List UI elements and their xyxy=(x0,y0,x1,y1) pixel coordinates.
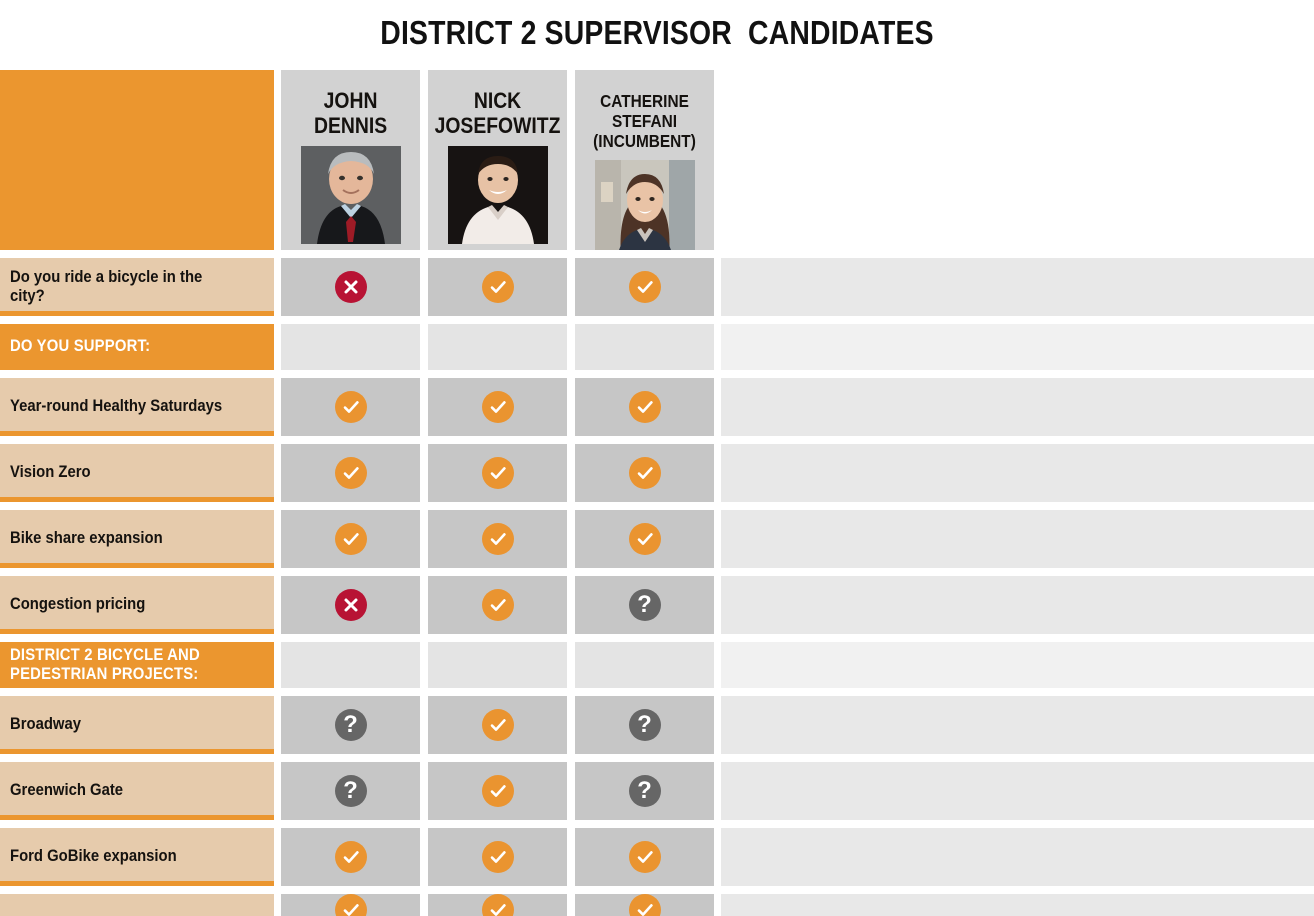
candidate-header-2: NICK JOSEFOWITZ xyxy=(428,70,567,250)
row-label-cell: Vision Zero xyxy=(0,444,274,502)
answer-cell xyxy=(575,828,714,886)
table-row: Broadway?? xyxy=(0,696,1314,754)
candidate-comparison-table: JOHN DENNISNICK JOSEFOWITZCATHERINE STEF… xyxy=(0,70,1314,916)
section-label-cell: DISTRICT 2 BICYCLE AND PEDESTRIAN PROJEC… xyxy=(0,642,274,688)
answer-cell: ? xyxy=(575,696,714,754)
table-row: Greenwich Gate?? xyxy=(0,762,1314,820)
check-icon xyxy=(482,841,514,873)
answer-cell: ? xyxy=(281,762,420,820)
row-extension-band xyxy=(721,444,1314,502)
column-separator xyxy=(420,70,428,250)
column-separator xyxy=(567,828,575,886)
portrait-nick-josefowitz xyxy=(448,146,548,244)
column-separator xyxy=(274,642,281,688)
check-icon xyxy=(629,841,661,873)
column-separator xyxy=(420,828,428,886)
answer-cell xyxy=(428,828,567,886)
portrait-catherine-stefani xyxy=(595,160,695,250)
answer-cell xyxy=(281,324,420,370)
row-extension-band xyxy=(721,642,1314,688)
answer-cell xyxy=(575,378,714,436)
column-separator xyxy=(420,444,428,502)
candidate-header-1: JOHN DENNIS xyxy=(281,70,420,250)
column-separator xyxy=(274,70,281,250)
row-label-cell xyxy=(0,894,274,916)
question-glyph: ? xyxy=(637,713,652,737)
column-separator xyxy=(274,696,281,754)
row-extension-band xyxy=(721,258,1314,316)
row-label: Vision Zero xyxy=(10,463,91,482)
column-separator xyxy=(567,576,575,634)
column-separator xyxy=(567,762,575,820)
answer-cell xyxy=(428,894,567,916)
answer-cell: ? xyxy=(575,762,714,820)
column-separator xyxy=(567,894,575,916)
row-separator xyxy=(0,754,1314,762)
portrait-john-dennis xyxy=(301,146,401,244)
answer-cell xyxy=(428,258,567,316)
question-glyph: ? xyxy=(637,593,652,617)
answer-cell xyxy=(575,642,714,688)
question-icon: ? xyxy=(335,775,367,807)
check-icon xyxy=(482,391,514,423)
question-glyph: ? xyxy=(637,779,652,803)
table-row xyxy=(0,894,1314,916)
candidate-name: NICK JOSEFOWITZ xyxy=(435,76,561,138)
column-separator xyxy=(274,894,281,916)
column-separator xyxy=(274,828,281,886)
column-separator xyxy=(420,642,428,688)
answer-cell xyxy=(575,444,714,502)
column-separator xyxy=(567,324,575,370)
answer-cell xyxy=(281,642,420,688)
answer-cell xyxy=(428,642,567,688)
answer-cell xyxy=(281,258,420,316)
question-icon: ? xyxy=(629,709,661,741)
cross-icon xyxy=(335,589,367,621)
row-label-cell: Ford GoBike expansion xyxy=(0,828,274,886)
row-extension-band xyxy=(721,324,1314,370)
page-title: DISTRICT 2 SUPERVISOR CANDIDATES xyxy=(92,14,1222,52)
row-label: Year-round Healthy Saturdays xyxy=(10,397,222,416)
answer-cell xyxy=(281,444,420,502)
candidate-name: JOHN DENNIS xyxy=(314,76,387,138)
check-icon xyxy=(629,894,661,916)
column-separator xyxy=(567,444,575,502)
answer-cell: ? xyxy=(575,576,714,634)
table-row: Do you ride a bicycle in the city? xyxy=(0,258,1314,316)
column-separator xyxy=(567,378,575,436)
column-separator xyxy=(567,696,575,754)
header-filler xyxy=(721,70,1314,250)
check-icon xyxy=(335,457,367,489)
table-row: Ford GoBike expansion xyxy=(0,828,1314,886)
check-icon xyxy=(335,391,367,423)
section-label: DISTRICT 2 BICYCLE AND PEDESTRIAN PROJEC… xyxy=(10,646,200,685)
check-icon xyxy=(482,523,514,555)
table-row: Congestion pricing? xyxy=(0,576,1314,634)
table-row: Bike share expansion xyxy=(0,510,1314,568)
check-icon xyxy=(482,589,514,621)
answer-cell xyxy=(281,576,420,634)
answer-cell xyxy=(281,510,420,568)
row-extension-band xyxy=(721,828,1314,886)
check-icon xyxy=(335,894,367,916)
answer-cell xyxy=(281,378,420,436)
answer-cell xyxy=(428,696,567,754)
answer-cell xyxy=(428,576,567,634)
question-icon: ? xyxy=(629,589,661,621)
header-corner-cell xyxy=(0,70,274,250)
answer-cell xyxy=(428,378,567,436)
row-separator xyxy=(0,502,1314,510)
row-separator xyxy=(0,634,1314,642)
table-row: Vision Zero xyxy=(0,444,1314,502)
row-label-cell: Broadway xyxy=(0,696,274,754)
row-label: Greenwich Gate xyxy=(10,781,123,800)
answer-cell xyxy=(281,828,420,886)
check-icon xyxy=(482,457,514,489)
column-separator xyxy=(567,258,575,316)
answer-cell xyxy=(428,444,567,502)
column-separator xyxy=(274,444,281,502)
answer-cell xyxy=(428,510,567,568)
column-separator xyxy=(274,576,281,634)
column-separator xyxy=(420,762,428,820)
question-icon: ? xyxy=(335,709,367,741)
question-icon: ? xyxy=(629,775,661,807)
check-icon xyxy=(629,457,661,489)
question-glyph: ? xyxy=(343,779,358,803)
column-separator xyxy=(274,258,281,316)
column-separator xyxy=(420,324,428,370)
check-icon xyxy=(629,271,661,303)
answer-cell xyxy=(575,324,714,370)
section-header-row: DISTRICT 2 BICYCLE AND PEDESTRIAN PROJEC… xyxy=(0,642,1314,688)
candidate-header-3: CATHERINE STEFANI (INCUMBENT) xyxy=(575,70,714,250)
column-separator xyxy=(567,642,575,688)
candidate-name: CATHERINE STEFANI (INCUMBENT) xyxy=(583,76,705,152)
row-separator xyxy=(0,250,1314,258)
check-icon xyxy=(482,709,514,741)
check-icon xyxy=(482,271,514,303)
row-separator xyxy=(0,370,1314,378)
row-label-cell: Do you ride a bicycle in the city? xyxy=(0,258,274,316)
table-header-row: JOHN DENNISNICK JOSEFOWITZCATHERINE STEF… xyxy=(0,70,1314,250)
row-separator xyxy=(0,688,1314,696)
answer-cell xyxy=(575,894,714,916)
cross-icon xyxy=(335,271,367,303)
column-separator xyxy=(274,510,281,568)
row-extension-band xyxy=(721,378,1314,436)
row-label: Broadway xyxy=(10,715,81,734)
check-icon xyxy=(335,841,367,873)
column-separator xyxy=(274,762,281,820)
answer-cell: ? xyxy=(281,696,420,754)
answer-cell xyxy=(428,324,567,370)
section-label: DO YOU SUPPORT: xyxy=(10,337,150,356)
column-separator xyxy=(420,696,428,754)
column-separator xyxy=(420,894,428,916)
check-icon xyxy=(482,894,514,916)
row-separator xyxy=(0,886,1314,894)
row-label-cell: Bike share expansion xyxy=(0,510,274,568)
column-separator xyxy=(420,510,428,568)
check-icon xyxy=(335,523,367,555)
column-separator xyxy=(274,324,281,370)
check-icon xyxy=(629,391,661,423)
row-label: Congestion pricing xyxy=(10,595,145,614)
row-separator xyxy=(0,820,1314,828)
answer-cell xyxy=(281,894,420,916)
answer-cell xyxy=(575,510,714,568)
section-label-cell: DO YOU SUPPORT: xyxy=(0,324,274,370)
section-header-row: DO YOU SUPPORT: xyxy=(0,324,1314,370)
row-extension-band xyxy=(721,894,1314,916)
table-row: Year-round Healthy Saturdays xyxy=(0,378,1314,436)
row-label: Do you ride a bicycle in the city? xyxy=(10,268,239,307)
question-glyph: ? xyxy=(343,713,358,737)
check-icon xyxy=(629,523,661,555)
answer-cell xyxy=(428,762,567,820)
answer-cell xyxy=(575,258,714,316)
row-separator xyxy=(0,568,1314,576)
row-extension-band xyxy=(721,696,1314,754)
row-extension-band xyxy=(721,762,1314,820)
row-separator xyxy=(0,316,1314,324)
row-label-cell: Year-round Healthy Saturdays xyxy=(0,378,274,436)
row-label-cell: Congestion pricing xyxy=(0,576,274,634)
row-extension-band xyxy=(721,510,1314,568)
row-label: Bike share expansion xyxy=(10,529,163,548)
row-label-cell: Greenwich Gate xyxy=(0,762,274,820)
column-separator xyxy=(420,258,428,316)
row-separator xyxy=(0,436,1314,444)
column-separator xyxy=(274,378,281,436)
column-separator xyxy=(567,510,575,568)
column-separator xyxy=(420,576,428,634)
row-extension-band xyxy=(721,576,1314,634)
column-separator xyxy=(420,378,428,436)
check-icon xyxy=(482,775,514,807)
column-separator xyxy=(567,70,575,250)
row-label: Ford GoBike expansion xyxy=(10,847,177,866)
